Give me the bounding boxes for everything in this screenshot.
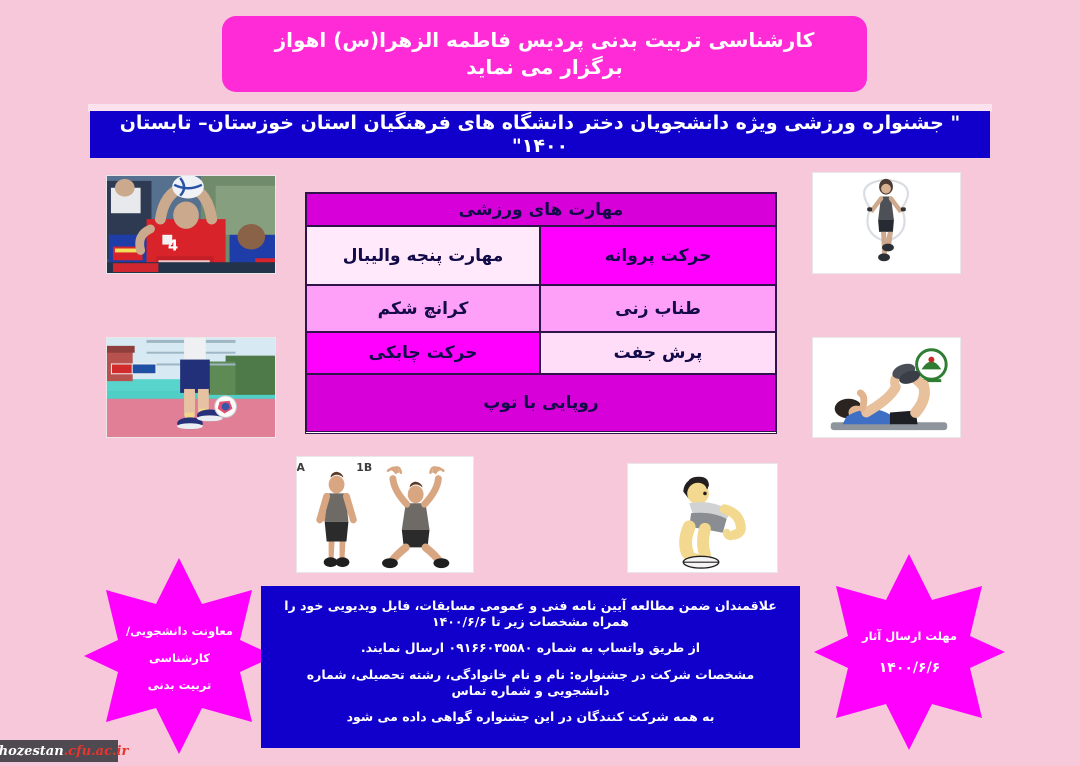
skill-cell-crunch: کرانچ شکم — [306, 285, 540, 332]
volleyball-setting-photo: 4 — [106, 175, 276, 274]
title-plate-text: کارشناسی تربیت بدنی پردیس فاطمه الزهرا(س… — [240, 27, 849, 81]
skill-cell-butterfly: حرکت پروانه — [540, 226, 776, 285]
star-shape-icon — [812, 552, 1007, 752]
skill-cell-two-foot-jump: پرش جفت — [540, 332, 776, 374]
department-star: معاونت دانشجویی/ کارشناسی تربیت بدنی — [82, 556, 277, 756]
watermark-domain: .cfu.ac.ir — [64, 744, 129, 759]
registration-info-box: علاقمندان ضمن مطالعه آیین نامه فنی و عمو… — [261, 586, 800, 748]
table-header-row: مهارت های ورزشی — [306, 193, 776, 226]
football-juggling-photo — [106, 337, 276, 438]
table-row: پرش جفت حرکت چابکی — [306, 332, 776, 374]
jumping-jack-label-a: 1A — [297, 461, 306, 474]
site-watermark: khozestan.cfu.ac.ir — [0, 740, 118, 762]
crunch-photo — [812, 337, 961, 438]
info-line-certificate: به همه شرکت کنندگان در این جشنواره گواهی… — [277, 709, 784, 725]
info-line-whatsapp: از طریق واتساپ به شماره ۰۹۱۶۶۰۳۵۵۸۰ ارسا… — [277, 640, 784, 656]
skill-cell-agility: حرکت چابکی — [306, 332, 540, 374]
table-row: حرکت پروانه مهارت پنجه والیبال — [306, 226, 776, 285]
skill-cell-volleyball-set: مهارت پنجه والیبال — [306, 226, 540, 285]
sports-skills-table: مهارت های ورزشی حرکت پروانه مهارت پنجه و… — [305, 192, 777, 434]
info-line-required-fields: مشخصات شرکت در جشنواره: نام و نام خانواد… — [277, 667, 784, 698]
festival-banner-text: " جشنواره ورزشی ویژه دانشجویان دختر دانش… — [104, 112, 976, 158]
watermark-site: khozestan — [0, 744, 64, 759]
table-footer-row: روپایی با توپ — [306, 374, 776, 432]
watermark-text: khozestan.cfu.ac.ir — [0, 744, 128, 759]
info-line-submission: علاقمندان ضمن مطالعه آیین نامه فنی و عمو… — [277, 598, 784, 629]
festival-banner: " جشنواره ورزشی ویژه دانشجویان دختر دانش… — [90, 111, 990, 158]
svg-text:4: 4 — [168, 238, 178, 255]
jumping-jack-label-b: 1B — [356, 461, 372, 474]
deadline-star: مهلت ارسال آثار ۱۴۰۰/۶/۶ — [812, 552, 1007, 752]
table-row: طناب زنی کرانچ شکم — [306, 285, 776, 332]
title-plate: کارشناسی تربیت بدنی پردیس فاطمه الزهرا(س… — [222, 16, 867, 92]
agility-photo — [627, 463, 778, 573]
jump-rope-photo — [812, 172, 961, 274]
poster-canvas: کارشناسی تربیت بدنی پردیس فاطمه الزهرا(س… — [0, 0, 1080, 766]
skill-cell-rope-jumping: طناب زنی — [540, 285, 776, 332]
jumping-jack-photo: 1A 1B — [296, 456, 474, 573]
table-header-cell: مهارت های ورزشی — [306, 193, 776, 226]
star-shape-icon — [82, 556, 277, 756]
skill-cell-ball-juggling: روپایی با توپ — [306, 374, 776, 432]
